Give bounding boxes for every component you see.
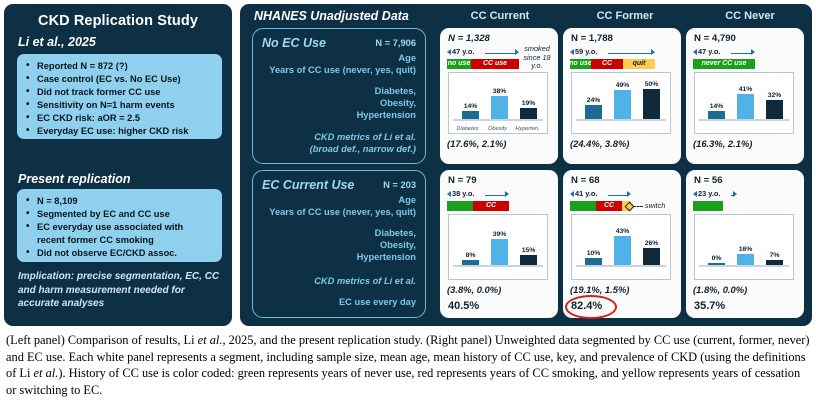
arrow-left-icon (693, 191, 697, 197)
bar-fill (708, 263, 725, 265)
mean-age-arrow: 59 y.o. (570, 48, 674, 59)
caption-segment: ). History of CC use is color coded: gre… (6, 366, 800, 397)
cc-history-key-bar: CC (570, 201, 631, 211)
ckd-prevalence: (17.6%, 2.1%) (447, 138, 506, 149)
key-segment-red: CC use (471, 59, 519, 69)
chart-baseline (699, 119, 789, 121)
bar-fill (708, 111, 725, 119)
mean-age-label: 59 y.o. (575, 47, 597, 56)
bar-value-label: 16% (730, 246, 761, 253)
prevalence-bar-chart: 24%49%50% (571, 72, 671, 134)
row-metric-line-2: (broad def., narrow def.) (310, 144, 416, 154)
segment-panel: N = 7938 y.o.CC8%39%15%(3.8%, 0.0%)40.5% (440, 170, 558, 318)
panel-sample-size: N = 56 (694, 175, 723, 186)
arrow-right-icon (627, 191, 631, 197)
bar-value-label: 38% (484, 88, 515, 95)
ckd-prevalence: (16.3%, 2.1%) (693, 138, 752, 149)
x-axis-tick-label: Obesity (481, 126, 514, 132)
figure-root: CKD Replication Study Li et al., 2025 Re… (0, 0, 816, 330)
mean-age-arrow: 41 y.o. (570, 190, 674, 201)
row-line-obesity: Obesity, (380, 240, 416, 250)
bar-obesity: 39% (491, 239, 508, 265)
mean-age-label: 47 y.o. (452, 47, 474, 56)
bar-fill (462, 260, 479, 265)
key-segment-green: no use (447, 59, 471, 69)
arrow-line (608, 195, 627, 196)
arrow-right-icon (651, 49, 655, 55)
cc-history-key-bar: no useCCquit (570, 59, 655, 69)
row-line-obesity: Obesity, (380, 98, 416, 108)
bar-fill (462, 111, 479, 119)
row-line-years-cc: Years of CC use (never, yes, quit) (269, 65, 416, 75)
key-segment-red: CC (591, 59, 623, 69)
prevalence-bar-chart: 0%16%7% (694, 214, 794, 280)
key-segment-red: CC (473, 201, 509, 211)
segment-panel: N = 5623 y.o.0%16%7%(1.8%, 0.0%)35.7% (686, 170, 804, 318)
bar-value-label: 10% (578, 250, 609, 257)
bar-hyperten: 32% (766, 100, 783, 119)
panel-sample-size: N = 1,328 (448, 33, 490, 44)
cc-history-key-bar: CC (447, 201, 509, 211)
bar-hyperten: 26% (643, 248, 660, 265)
bar-fill (585, 105, 602, 119)
segment-panel: N = 6841 y.o.CCswitch10%43%26%(19.1%, 1.… (563, 170, 681, 318)
right-panel-title: NHANES Unadjusted Data (254, 9, 409, 23)
row-line-hypertension: Hypertension (357, 252, 416, 262)
chart-baseline (699, 265, 789, 267)
prevalence-bar-chart: 8%39%15% (448, 214, 548, 280)
left-panel-subtitle-study: Li et al., 2025 (18, 35, 96, 49)
column-header-cc-current: CC Current (440, 10, 560, 22)
bar-fill (737, 94, 754, 119)
row-line-hypertension: Hypertension (357, 110, 416, 120)
bar-fill (643, 248, 660, 265)
list-item: Did not observe EC/CKD assoc. (37, 247, 216, 260)
list-item: Did not track former CC use (37, 86, 216, 99)
row-line-age: Age (398, 195, 416, 205)
left-panel: CKD Replication Study Li et al., 2025 Re… (4, 4, 232, 326)
ckd-prevalence: (24.4%, 3.8%) (570, 138, 629, 149)
bar-value-label: 7% (759, 252, 790, 259)
caption-segment: et al. (198, 333, 223, 347)
arrow-left-icon (570, 49, 574, 55)
bar-value-label: 39% (484, 231, 515, 238)
cc-history-key-bar (693, 201, 723, 211)
switch-dash (633, 206, 643, 207)
key-segment-green: never CC use (693, 59, 755, 69)
bar-value-label: 8% (455, 252, 486, 259)
cc-history-key-bar: never CC use (693, 59, 755, 69)
arrow-right-icon (733, 191, 737, 197)
bar-value-label: 14% (455, 103, 486, 110)
arrow-right-icon (505, 191, 509, 197)
bar-fill (643, 89, 660, 119)
list-item: Everyday EC use: higher CKD risk (37, 125, 216, 138)
mean-age-label: 41 y.o. (575, 189, 597, 198)
list-item: EC everyday use associated with (37, 221, 216, 234)
arrow-left-icon (693, 49, 697, 55)
segment-panel: N = 4,79047 y.o.never CC use14%41%32%(16… (686, 28, 804, 164)
bar-value-label: 26% (636, 240, 667, 247)
bar-fill (585, 258, 602, 265)
bar-fill (520, 108, 537, 119)
bar-diabetes: 14% (708, 111, 725, 119)
bar-hyperten: 15% (520, 255, 537, 265)
prevalence-bar-chart: 14%41%32% (694, 72, 794, 134)
bar-obesity: 41% (737, 94, 754, 119)
chart-baseline (453, 265, 543, 267)
row-line-diabetes: Diabetes, (375, 86, 416, 96)
key-segment-yellow: quit (623, 59, 655, 69)
bar-fill (520, 255, 537, 265)
caption-segment: (Left panel) Comparison of results, Li (6, 333, 198, 347)
arrow-line (485, 53, 515, 54)
x-axis-tick-label: Hyperten. (511, 126, 544, 132)
bar-value-label: 41% (730, 86, 761, 93)
bar-value-label: 19% (513, 100, 544, 107)
bar-diabetes: 24% (585, 105, 602, 119)
bar-diabetes: 0% (708, 263, 725, 265)
bar-value-label: 32% (759, 92, 790, 99)
row-sample-size: N = 203 (383, 180, 416, 190)
list-item: recent former CC smoking (37, 234, 216, 247)
ckd-prevalence: (1.8%, 0.0%) (693, 284, 747, 295)
arrow-right-icon (515, 49, 519, 55)
bar-hyperten: 7% (766, 260, 783, 265)
ec-everyday-use-percent: 35.7% (694, 300, 725, 312)
bar-value-label: 49% (607, 82, 638, 89)
key-segment-green (447, 201, 473, 211)
arrow-line (485, 195, 505, 196)
chart-baseline (576, 265, 666, 267)
bar-hyperten: 50% (643, 89, 660, 119)
row-metric-line-1: CKD metrics of Li et al. (314, 132, 416, 142)
column-header-cc-former: CC Former (562, 10, 688, 22)
segment-panel: N = 1,78859 y.o.no useCCquit24%49%50%(24… (563, 28, 681, 164)
bar-fill (766, 260, 783, 265)
row-descriptor-no-ec-use: No EC Use N = 7,906 Age Years of CC use … (252, 28, 426, 164)
row-metric-line-3: EC use every day (339, 297, 416, 307)
key-segment-green (693, 201, 723, 211)
row-line-years-cc: Years of CC use (never, yes, quit) (269, 207, 416, 217)
switch-label: switch (645, 201, 665, 210)
bar-diabetes: 14% (462, 111, 479, 119)
mean-age-arrow: 23 y.o. (693, 190, 797, 201)
key-segment-green (570, 201, 596, 211)
highlight-ellipse (565, 295, 617, 319)
list-item: Sensitivity on N=1 harm events (37, 99, 216, 112)
bar-value-label: 14% (701, 103, 732, 110)
bar-obesity: 38% (491, 96, 508, 119)
x-axis-tick-label: Diabetes (451, 126, 484, 132)
bar-value-label: 15% (513, 247, 544, 254)
key-segment-red: CC (596, 201, 622, 211)
panel-sample-size: N = 79 (448, 175, 477, 186)
figure-caption: (Left panel) Comparison of results, Li e… (6, 332, 810, 398)
bar-fill (766, 100, 783, 119)
bar-obesity: 16% (737, 254, 754, 265)
list-item: EC CKD risk: aOR = 2.5 (37, 112, 216, 125)
list-item: Case control (EC vs. No EC Use) (37, 73, 216, 86)
bar-obesity: 49% (614, 90, 631, 119)
arrow-left-icon (447, 49, 451, 55)
segment-panel: N = 1,32847 y.o.no useCC usesmoked since… (440, 28, 558, 164)
mean-age-label: 23 y.o. (698, 189, 720, 198)
mean-age-arrow: 38 y.o. (447, 190, 551, 201)
caption-segment: et al. (34, 366, 59, 380)
row-sample-size: N = 7,906 (375, 38, 416, 48)
row-name: No EC Use (262, 36, 326, 50)
row-metric-line-1: CKD metrics of Li et al. (314, 276, 416, 286)
bar-value-label: 0% (701, 255, 732, 262)
bar-diabetes: 10% (585, 258, 602, 265)
list-item: N = 8,109 (37, 195, 216, 208)
row-line-diabetes: Diabetes, (375, 228, 416, 238)
panel-sample-size: N = 1,788 (571, 33, 613, 44)
arrow-left-icon (447, 191, 451, 197)
mean-age-label: 38 y.o. (452, 189, 474, 198)
bar-hyperten: 19% (520, 108, 537, 119)
left-panel-title: CKD Replication Study (4, 13, 232, 29)
bar-value-label: 24% (578, 97, 609, 104)
arrow-line (731, 53, 751, 54)
bar-value-label: 50% (636, 81, 667, 88)
row-name: EC Current Use (262, 178, 354, 192)
left-panel-subtitle-replication: Present replication (18, 172, 131, 186)
chart-baseline (576, 119, 666, 121)
bar-value-label: 43% (607, 228, 638, 235)
ckd-prevalence: (19.1%, 1.5%) (570, 284, 629, 295)
row-line-age: Age (398, 53, 416, 63)
row-descriptor-ec-current-use: EC Current Use N = 203 Age Years of CC u… (252, 170, 426, 318)
left-panel-bullets-study: Reported N = 872 (?) Case control (EC vs… (17, 54, 222, 139)
arrow-line (608, 53, 651, 54)
column-header-cc-never: CC Never (690, 10, 810, 22)
bar-fill (491, 96, 508, 119)
ckd-prevalence: (3.8%, 0.0%) (447, 284, 501, 295)
bar-obesity: 43% (614, 236, 631, 265)
left-panel-implication: Implication: precise segmentation, EC, C… (18, 270, 220, 311)
list-item: Reported N = 872 (?) (37, 60, 216, 73)
cc-history-key-bar: no useCC use (447, 59, 519, 69)
key-segment-green: no use (570, 59, 591, 69)
mean-age-arrow: 47 y.o. (693, 48, 797, 59)
ec-everyday-use-percent: 40.5% (448, 300, 479, 312)
panel-sample-size: N = 68 (571, 175, 600, 186)
list-item: Segmented by EC and CC use (37, 208, 216, 221)
arrow-right-icon (751, 49, 755, 55)
chart-baseline (453, 119, 543, 121)
panel-note: smoked since 18 y.o. (522, 45, 552, 71)
arrow-left-icon (570, 191, 574, 197)
prevalence-bar-chart: 14%38%19%DiabetesObesityHyperten. (448, 72, 548, 134)
prevalence-bar-chart: 10%43%26% (571, 214, 671, 280)
left-panel-bullets-replication: N = 8,109 Segmented by EC and CC use EC … (17, 189, 222, 262)
bar-fill (614, 236, 631, 265)
bar-fill (737, 254, 754, 265)
mean-age-label: 47 y.o. (698, 47, 720, 56)
bar-diabetes: 8% (462, 260, 479, 265)
bar-fill (614, 90, 631, 119)
bar-fill (491, 239, 508, 265)
panel-sample-size: N = 4,790 (694, 33, 736, 44)
